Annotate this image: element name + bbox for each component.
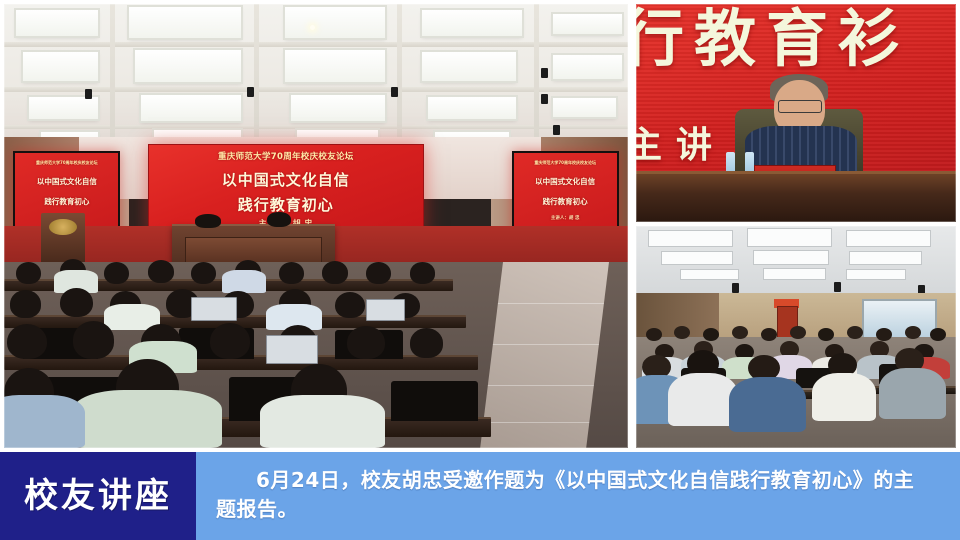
university-emblem-icon bbox=[49, 219, 77, 236]
side-screen-line2: 以中国式文化自信 bbox=[15, 176, 118, 187]
ceiling-spotlight-icon bbox=[247, 87, 254, 97]
side-screen-line2: 以中国式文化自信 bbox=[514, 176, 617, 187]
main-screen-line1: 重庆师范大学70周年校庆校友论坛 bbox=[149, 150, 424, 162]
side-screen-line3: 践行教育初心 bbox=[15, 196, 118, 207]
audience-photo bbox=[636, 226, 956, 448]
hall-window bbox=[862, 299, 936, 339]
podium bbox=[41, 213, 85, 262]
lecture-hall-wide-photo: 重庆师范大学70周年校庆校友论坛 以中国式文化自信 践行教育初心 主讲人：胡 忠… bbox=[4, 4, 628, 448]
caption-bar: 校友讲座 6月24日，校友胡忠受邀作题为《以中国式文化自信践行教育初心》的主题报… bbox=[0, 452, 960, 540]
speaker-portrait-photo: 行教育衫 主讲 胡 胡 忠 bbox=[636, 4, 956, 222]
main-screen-line3: 践行教育初心 bbox=[149, 194, 424, 215]
hall-scene: 重庆师范大学70周年校庆校友论坛 以中国式文化自信 践行教育初心 主讲人：胡 忠… bbox=[4, 4, 628, 448]
ceiling-spotlight-icon bbox=[834, 282, 841, 292]
ceiling-spotlight-icon bbox=[85, 89, 92, 99]
caption-text-area: 6月24日，校友胡忠受邀作题为《以中国式文化自信践行教育初心》的主题报告。 bbox=[196, 452, 960, 540]
ceiling-spotlight-icon bbox=[391, 87, 398, 97]
side-screen-line1: 重庆师范大学70周年校庆校友论坛 bbox=[15, 160, 118, 166]
main-screen-line2: 以中国式文化自信 bbox=[149, 169, 424, 190]
ceiling-spotlight-icon bbox=[541, 94, 548, 104]
side-screen-line4: 主讲人：胡 忠 bbox=[514, 215, 617, 221]
caption-body: 6月24日，校友胡忠受邀作题为《以中国式文化自信践行教育初心》的主题报告。 bbox=[216, 466, 934, 524]
caption-badge: 校友讲座 bbox=[0, 452, 196, 540]
audience-ceiling bbox=[636, 226, 956, 301]
backdrop-headline-row1: 行教育衫 bbox=[636, 8, 910, 70]
ceiling-spotlight-icon bbox=[541, 68, 548, 78]
side-screen-line1: 重庆师范大学70周年校庆校友论坛 bbox=[514, 160, 617, 166]
alumni-lecture-poster: 重庆师范大学70周年校庆校友论坛 以中国式文化自信 践行教育初心 主讲人：胡 忠… bbox=[0, 0, 960, 540]
ceiling-spotlight-icon bbox=[553, 125, 560, 135]
head-table bbox=[636, 171, 956, 222]
photo-collage: 重庆师范大学70周年校庆校友论坛 以中国式文化自信 践行教育初心 主讲人：胡 忠… bbox=[0, 0, 960, 452]
glasses-icon bbox=[778, 100, 822, 113]
caption-badge-label: 校友讲座 bbox=[24, 479, 172, 513]
side-screen-line3: 践行教育初心 bbox=[514, 196, 617, 207]
